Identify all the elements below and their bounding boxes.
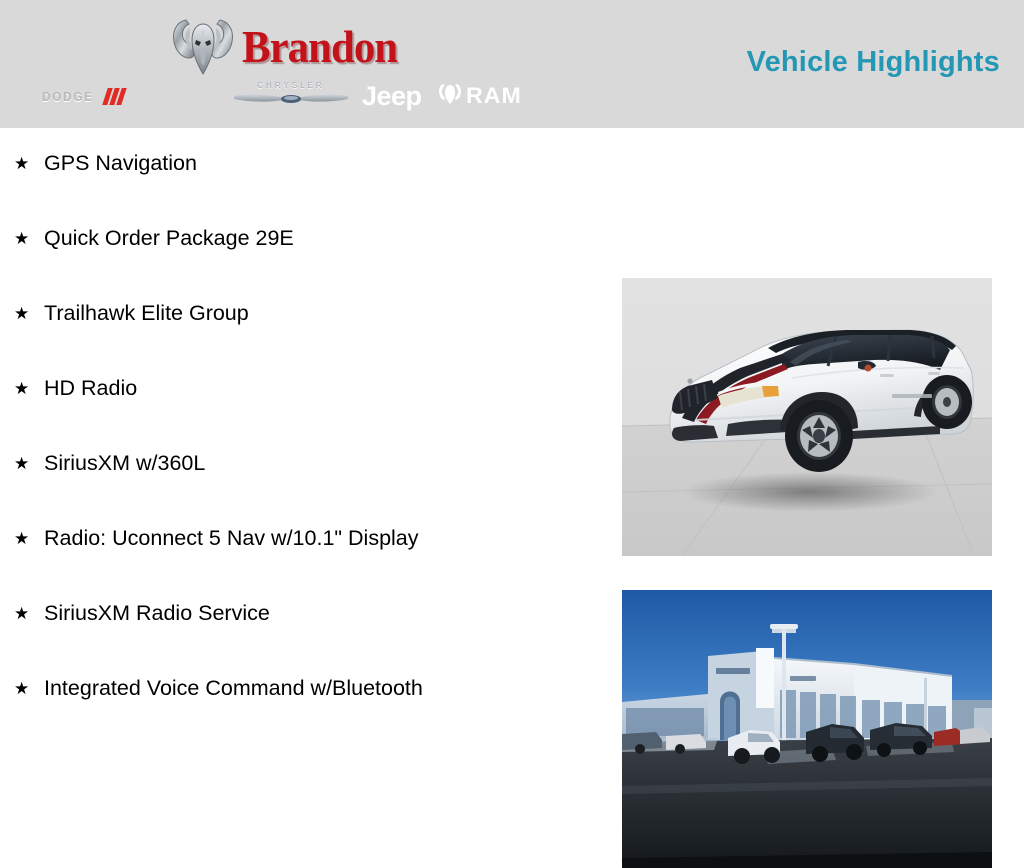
dealership-photo xyxy=(622,590,992,868)
list-item: ★ Integrated Voice Command w/Bluetooth xyxy=(10,674,600,723)
brand-badge-chrysler: CHRYSLER xyxy=(230,80,352,112)
dealer-logo-primary-row: Brandon xyxy=(170,14,409,80)
page-title: Vehicle Highlights xyxy=(747,46,1000,79)
brand-label-ram: RAM xyxy=(466,83,522,109)
vehicle-highlights-list: ★ GPS Navigation ★ Quick Order Package 2… xyxy=(10,149,600,723)
brand-label-jeep: Jeep xyxy=(362,81,422,112)
ram-head-icon xyxy=(170,16,236,78)
list-item: ★ GPS Navigation xyxy=(10,149,600,198)
list-item: ★ SiriusXM Radio Service xyxy=(10,599,600,648)
list-item-label: GPS Navigation xyxy=(44,149,600,178)
list-item: ★ SiriusXM w/360L xyxy=(10,449,600,498)
list-item-label: SiriusXM w/360L xyxy=(44,449,600,478)
page-header: Brandon DODGE CHRYSLER xyxy=(0,0,1024,128)
star-bullet-icon: ★ xyxy=(14,524,29,553)
brand-label-dodge: DODGE xyxy=(42,89,94,104)
list-item-label: HD Radio xyxy=(44,374,600,403)
star-bullet-icon: ★ xyxy=(14,374,29,403)
star-bullet-icon: ★ xyxy=(14,449,29,478)
chrysler-wing-icon xyxy=(232,92,350,110)
star-bullet-icon: ★ xyxy=(14,599,29,628)
star-bullet-icon: ★ xyxy=(14,674,29,703)
dealer-name: Brandon xyxy=(242,24,397,70)
dealer-logo: Brandon DODGE CHRYSLER xyxy=(30,8,550,118)
ram-head-small-icon xyxy=(438,82,462,111)
brand-badge-ram: RAM xyxy=(438,80,519,112)
list-item-label: Trailhawk Elite Group xyxy=(44,299,600,328)
list-item-label: Radio: Uconnect 5 Nav w/10.1" Display xyxy=(44,524,600,553)
brand-badge-jeep: Jeep xyxy=(362,80,422,112)
list-item: ★ Quick Order Package 29E xyxy=(10,224,600,273)
star-bullet-icon: ★ xyxy=(14,149,29,178)
page-content: ★ GPS Navigation ★ Quick Order Package 2… xyxy=(0,128,1024,768)
list-item: ★ HD Radio xyxy=(10,374,600,423)
list-item: ★ Trailhawk Elite Group xyxy=(10,299,600,348)
dodge-slashes-icon xyxy=(102,88,127,105)
star-bullet-icon: ★ xyxy=(14,299,29,328)
brand-badge-dodge: DODGE xyxy=(42,80,124,112)
list-item-label: Quick Order Package 29E xyxy=(44,224,600,253)
vehicle-photo xyxy=(622,278,992,556)
brand-badge-row: DODGE CHRYSLER xyxy=(30,80,550,112)
star-bullet-icon: ★ xyxy=(14,224,29,253)
list-item: ★ Radio: Uconnect 5 Nav w/10.1" Display xyxy=(10,524,600,573)
list-item-label: SiriusXM Radio Service xyxy=(44,599,600,628)
brand-label-chrysler: CHRYSLER xyxy=(232,82,350,90)
list-item-label: Integrated Voice Command w/Bluetooth xyxy=(44,674,600,703)
